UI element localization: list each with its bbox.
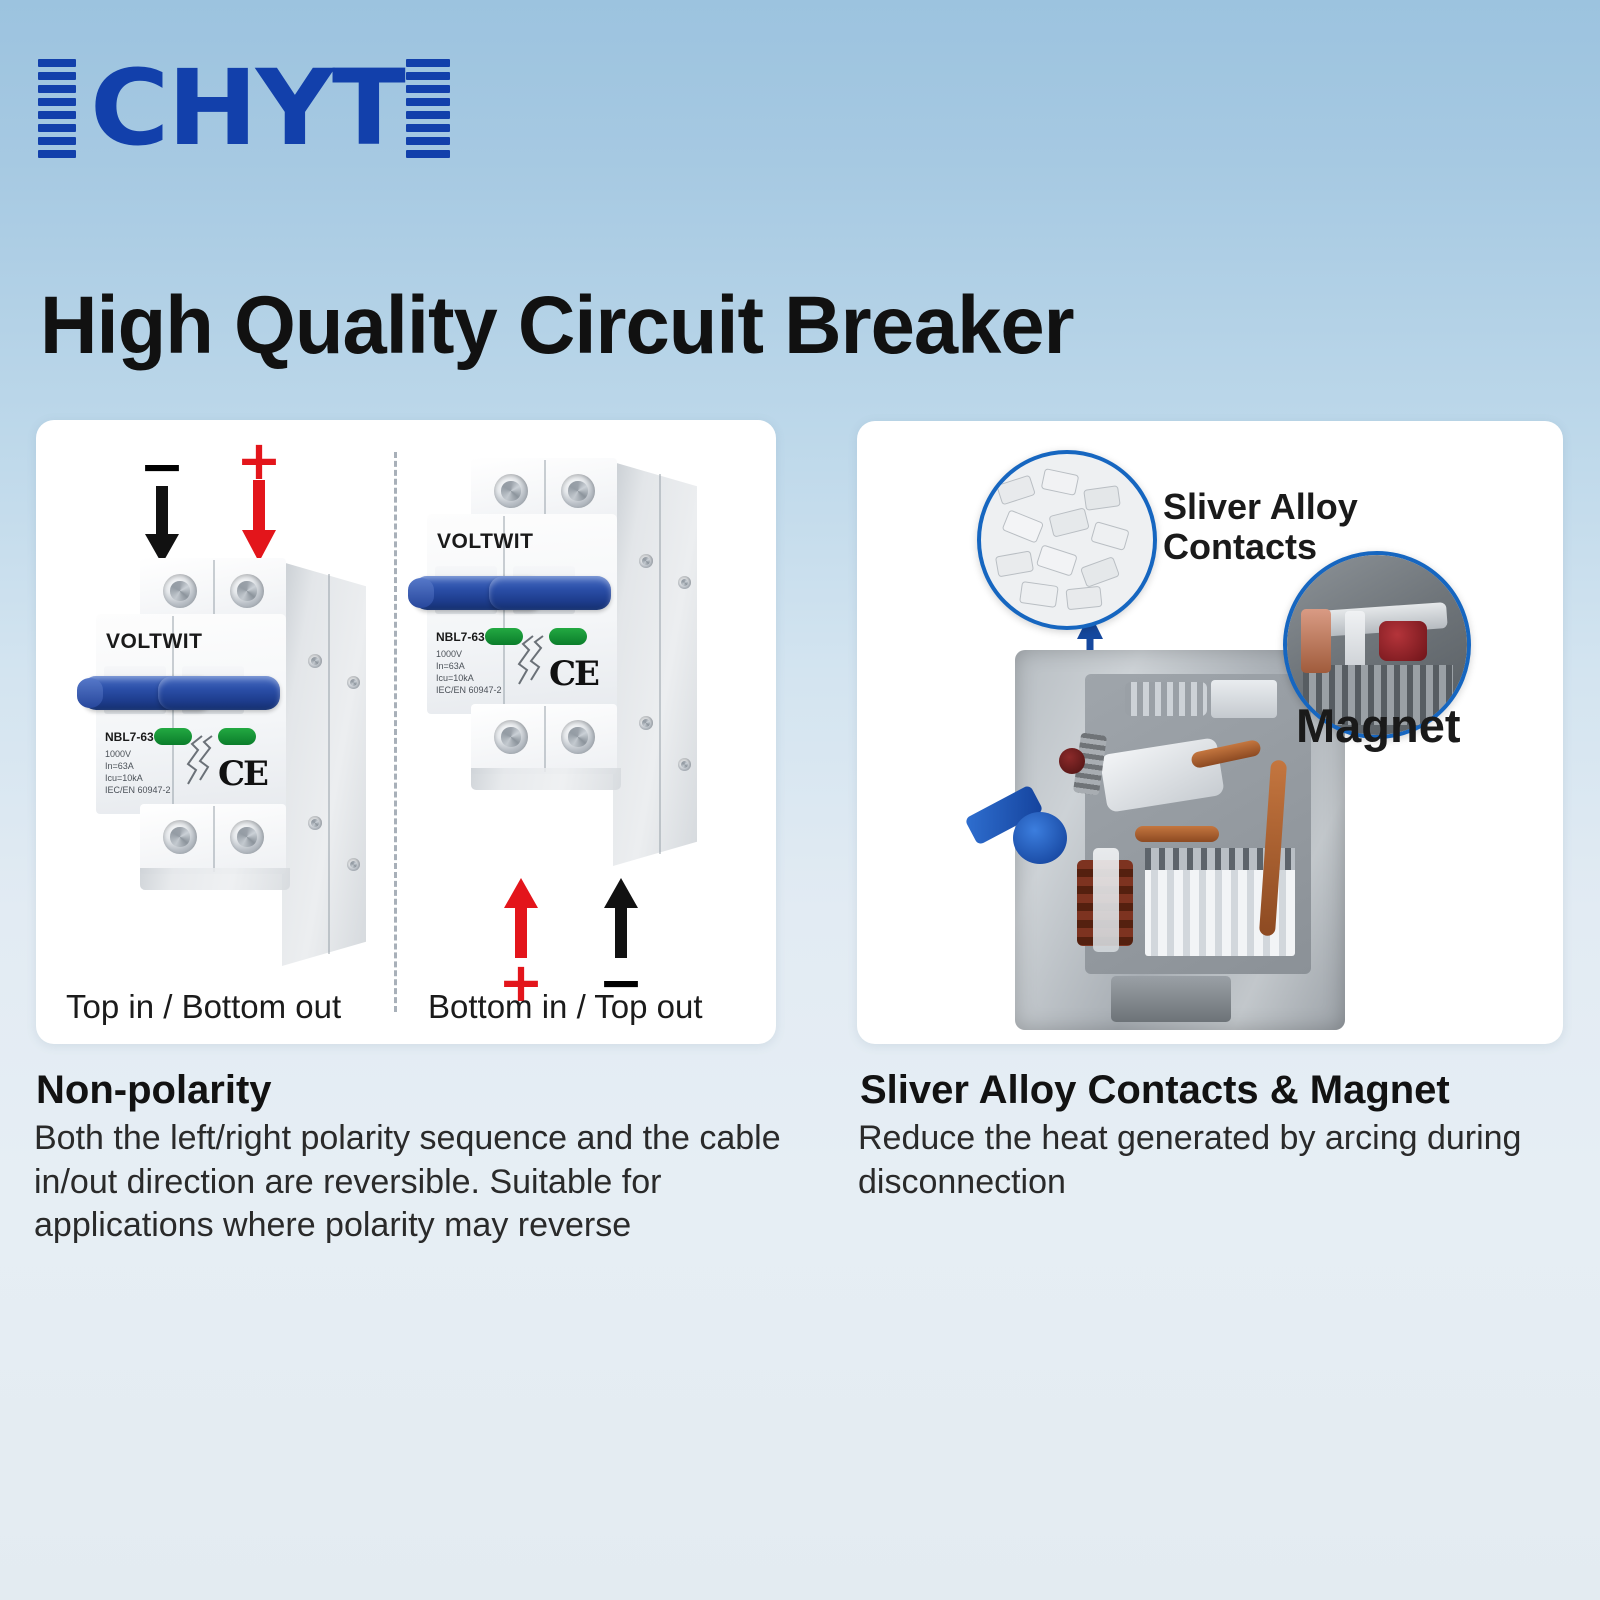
logo-wordmark: CHYT — [90, 56, 404, 160]
side-screw-top — [308, 654, 322, 668]
minus-sign: − — [139, 448, 184, 486]
side-screw-far-top — [347, 676, 360, 689]
arrow-down-black-icon — [139, 486, 185, 564]
terminal-screw-top-left — [163, 574, 197, 608]
cutaway-toggle-knob[interactable] — [1013, 812, 1067, 864]
solenoid-spring — [1125, 682, 1207, 716]
terminal-screw-bottom-right-2 — [561, 720, 595, 754]
terminal-screw-bottom-left-2 — [494, 720, 528, 754]
breaker-toggle-pole2-2[interactable] — [489, 576, 611, 610]
magnet-body — [1379, 621, 1427, 661]
terminal-screw-bottom-left — [163, 820, 197, 854]
side-screw-bottom — [308, 816, 322, 830]
feature-title-non-polarity: Non-polarity — [36, 1068, 272, 1113]
side-screw-bottom-2 — [639, 716, 653, 730]
breaker-spec-line-4: IEC/EN 60947-2 — [105, 784, 171, 796]
breaker-spec-line-3-2: Icu=10kA — [436, 672, 474, 684]
breaker-spec-line-2: In=63A — [105, 760, 134, 772]
breaker-toggle-pole2[interactable] — [158, 676, 280, 710]
toggle-end-cap — [77, 678, 103, 708]
ce-mark-2: CE — [549, 654, 598, 694]
infographic-canvas: CHYT High Quality Circuit Breaker − + — [0, 0, 1600, 1600]
caption-top-in-bottom-out: Top in / Bottom out — [66, 988, 341, 1026]
terminal-screw-top-left-2 — [494, 474, 528, 508]
side-screw-top-2 — [639, 554, 653, 568]
marker-positive-top-in: + — [236, 442, 282, 562]
ce-mark: CE — [218, 754, 267, 794]
alloy-chips-illustration — [981, 454, 1153, 626]
breaker-spec-line-4-2: IEC/EN 60947-2 — [436, 684, 502, 696]
breaker-model-label: NBL7-63 — [105, 730, 154, 744]
wiring-schematic-icon-2 — [513, 634, 549, 690]
feature-body-contacts-magnet: Reduce the heat generated by arcing duri… — [858, 1117, 1558, 1204]
breaker-right: VOLTWIT NBL7-63 1000V In=63A Icu=10kA IE… — [427, 458, 699, 870]
breaker-spec-line-2-2: In=63A — [436, 660, 465, 672]
terminal-top-seam-2 — [544, 460, 546, 522]
terminal-bottom-seam-2 — [544, 706, 546, 772]
din-rail-clip — [140, 868, 290, 890]
marker-positive-bottom-in: + — [498, 878, 544, 1002]
callout-label-line1: Sliver Alloy — [1163, 487, 1358, 527]
logo-bars-left — [38, 56, 76, 160]
side-screw-far-bottom-2 — [678, 758, 691, 771]
copper-conductor-mid — [1135, 826, 1219, 842]
terminal-screw-top-right — [230, 574, 264, 608]
status-indicator-pole2 — [218, 728, 256, 745]
wiring-schematic-icon — [182, 734, 218, 790]
magnet-copper-lug — [1301, 609, 1331, 673]
marker-negative-top-in: − — [139, 448, 185, 564]
breaker-brand-label: VOLTWIT — [106, 630, 202, 654]
terminal-bottom-seam — [213, 806, 215, 872]
page-title: High Quality Circuit Breaker — [40, 285, 1074, 367]
feature-body-non-polarity: Both the left/right polarity sequence an… — [34, 1117, 794, 1248]
marker-negative-bottom-in: − — [598, 878, 644, 1002]
logo-bars-right — [406, 56, 450, 160]
breaker-spec-line-1-2: 1000V — [436, 648, 462, 660]
breaker-spec-line-1: 1000V — [105, 748, 131, 760]
side-seam — [328, 574, 330, 954]
terminal-screw-top-right-2 — [561, 474, 595, 508]
arrow-up-black-icon — [598, 878, 644, 958]
caption-bottom-in-top-out: Bottom in / Top out — [428, 988, 703, 1026]
breaker-brand-label-2: VOLTWIT — [437, 530, 533, 554]
sliver-alloy-contacts-zoom-circle — [977, 450, 1157, 630]
terminal-top-seam — [213, 560, 215, 622]
contact-pad — [1059, 748, 1085, 774]
terminal-screw-bottom-right — [230, 820, 264, 854]
status-indicator-pole2-2 — [549, 628, 587, 645]
side-screw-far-bottom — [347, 858, 360, 871]
arrow-up-red-icon — [498, 878, 544, 958]
brand-logo: CHYT — [38, 52, 450, 164]
plus-sign: + — [236, 442, 281, 480]
side-screw-far-top-2 — [678, 576, 691, 589]
toggle-end-cap-2 — [408, 578, 434, 608]
breaker-side-body-2 — [613, 462, 697, 866]
breaker-left: VOLTWIT NBL7-63 1000V In=63A Icu=10kA IE… — [96, 558, 368, 970]
cutaway-bottom-terminal — [1111, 976, 1231, 1022]
din-rail-clip-2 — [471, 768, 621, 790]
breaker-model-label-2: NBL7-63 — [436, 630, 485, 644]
breaker-spec-line-3: Icu=10kA — [105, 772, 143, 784]
arrow-down-red-icon — [236, 480, 282, 562]
callout-label-magnet: Magnet — [1296, 700, 1461, 753]
breaker-side-body — [282, 562, 366, 966]
feature-title-contacts-magnet: Sliver Alloy Contacts & Magnet — [860, 1068, 1450, 1113]
trip-block — [1211, 680, 1277, 718]
side-seam-2 — [659, 474, 661, 854]
card-divider — [394, 452, 397, 1012]
coil-core — [1093, 848, 1119, 952]
